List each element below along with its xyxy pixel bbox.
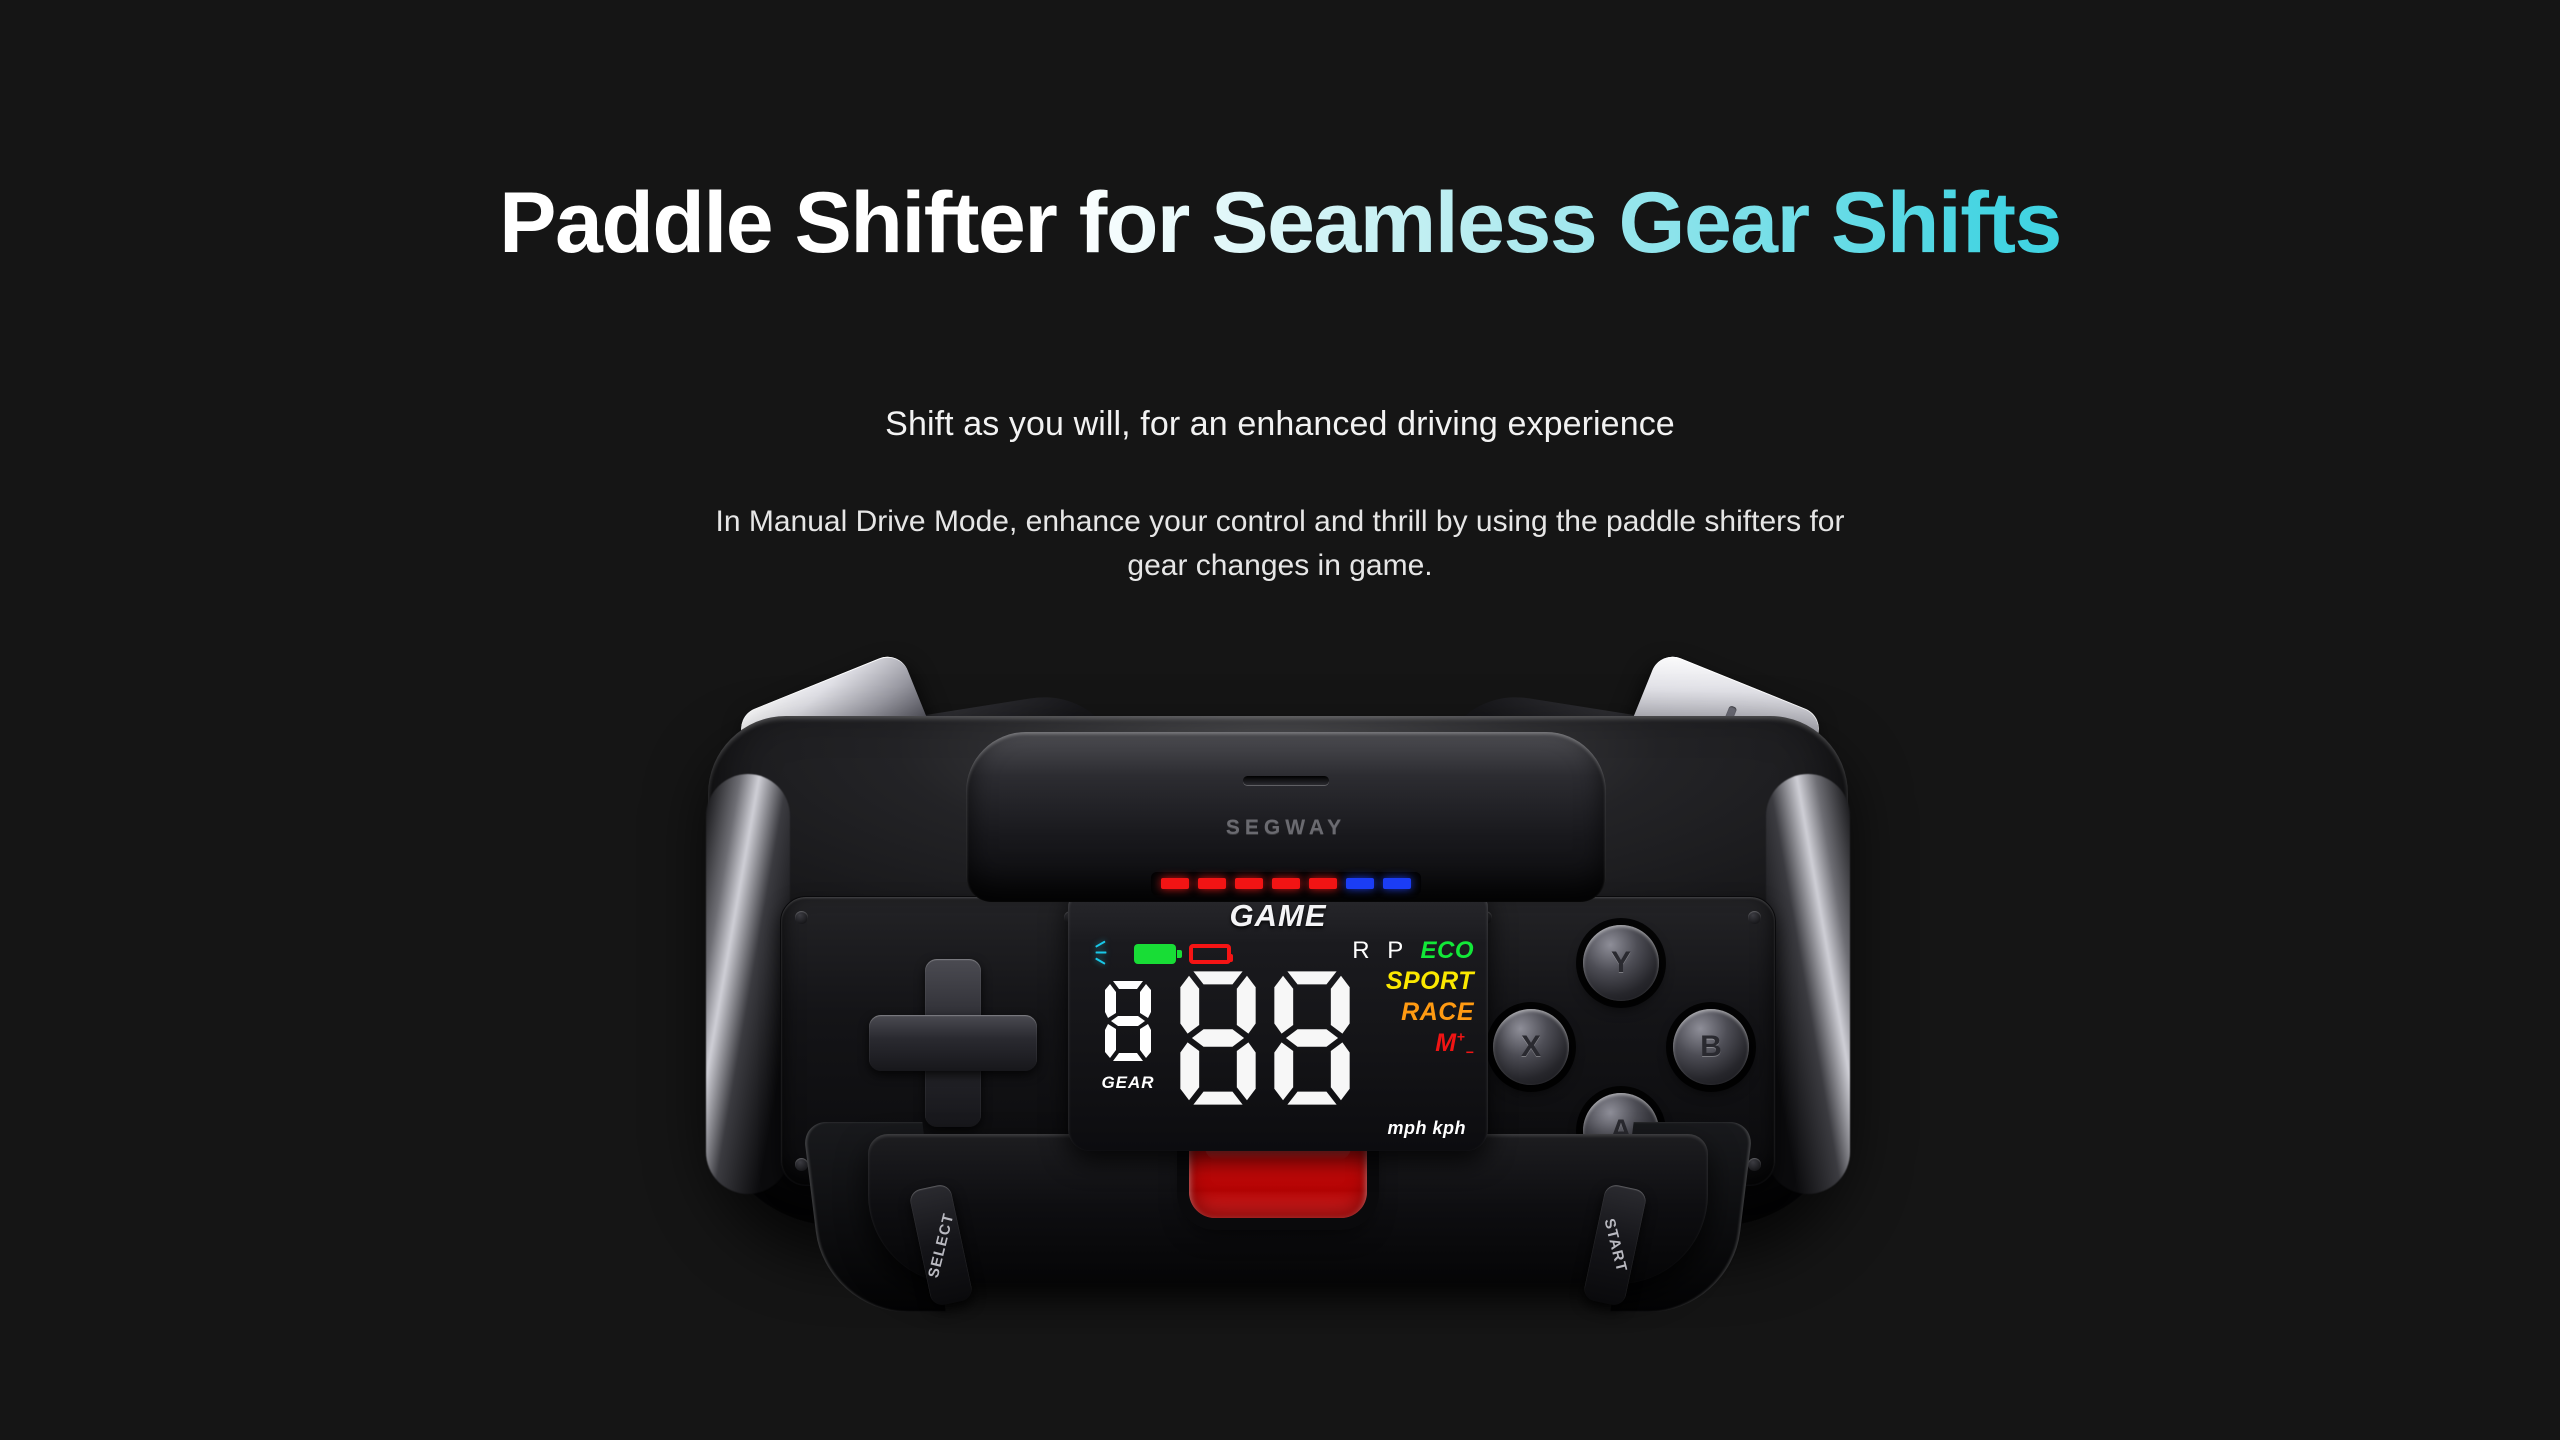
- right-grip: [1766, 774, 1850, 1194]
- screw-icon: [1748, 911, 1761, 924]
- usb-port-icon: [1243, 776, 1329, 785]
- brand-logo: SEGWAY: [1226, 816, 1346, 840]
- dpad-horizontal-arm[interactable]: [869, 1015, 1037, 1071]
- gear-label: GEAR: [1092, 1073, 1164, 1093]
- led-indicator: [1198, 878, 1226, 889]
- button-y[interactable]: Y: [1583, 925, 1659, 1001]
- mode-manual-label: M: [1435, 1029, 1456, 1057]
- page-title: Paddle Shifter for Seamless Gear Shifts: [0, 178, 2560, 268]
- start-button-label: START: [1600, 1216, 1630, 1273]
- mode-manual: M+−: [1352, 1028, 1474, 1061]
- led-indicator: [1161, 878, 1189, 889]
- speed-units-label: mph kph: [1388, 1118, 1467, 1139]
- mode-sport: SPORT: [1352, 966, 1474, 997]
- speed-readout: [1176, 968, 1354, 1108]
- lcd-screen: GAME 🗧: [1068, 886, 1488, 1151]
- button-b[interactable]: B: [1673, 1009, 1749, 1085]
- mode-race: RACE: [1352, 997, 1474, 1028]
- gear-indicator: GEAR: [1092, 978, 1164, 1093]
- page-description: In Manual Drive Mode, enhance your contr…: [690, 500, 1870, 589]
- controller-shell: Y X B A SELECT START GAME 🗧: [708, 716, 1848, 1226]
- led-indicator: [1309, 878, 1337, 889]
- mode-eco: ECO: [1420, 937, 1474, 964]
- page-subtitle: Shift as you will, for an enhanced drivi…: [0, 405, 2560, 444]
- gear-seven-segment-icon: [1099, 978, 1157, 1064]
- screen-status-icons: 🗧: [1094, 940, 1231, 967]
- screen-mode-title: GAME: [1230, 898, 1327, 934]
- dpad[interactable]: [869, 959, 1037, 1127]
- top-hump: SEGWAY: [966, 732, 1606, 902]
- screw-icon: [1748, 1158, 1761, 1171]
- controller-illustration: Y X B A SELECT START GAME 🗧: [700, 668, 1860, 1308]
- mode-park: P: [1387, 937, 1403, 964]
- drive-mode-indicators: R P ECO SPORT RACE M+−: [1352, 936, 1474, 1061]
- led-indicator: [1235, 878, 1263, 889]
- led-indicator: [1383, 878, 1411, 889]
- led-indicator-strip: [1151, 872, 1421, 895]
- speed-digit-ones-icon: [1270, 968, 1354, 1108]
- page-root: Paddle Shifter for Seamless Gear Shifts …: [0, 0, 2560, 1440]
- left-grip: [706, 774, 790, 1194]
- bluetooth-icon: 🗧: [1094, 940, 1121, 967]
- led-indicator: [1346, 878, 1374, 889]
- screw-icon: [795, 911, 808, 924]
- mode-reverse: R: [1352, 937, 1370, 964]
- battery-empty-icon: [1189, 944, 1231, 964]
- select-button-label: SELECT: [925, 1211, 958, 1280]
- speed-digit-tens-icon: [1176, 968, 1260, 1108]
- led-indicator: [1272, 878, 1300, 889]
- button-x[interactable]: X: [1493, 1009, 1569, 1085]
- battery-full-icon: [1134, 944, 1176, 964]
- mode-row-reverse-park-eco: R P ECO: [1352, 936, 1474, 966]
